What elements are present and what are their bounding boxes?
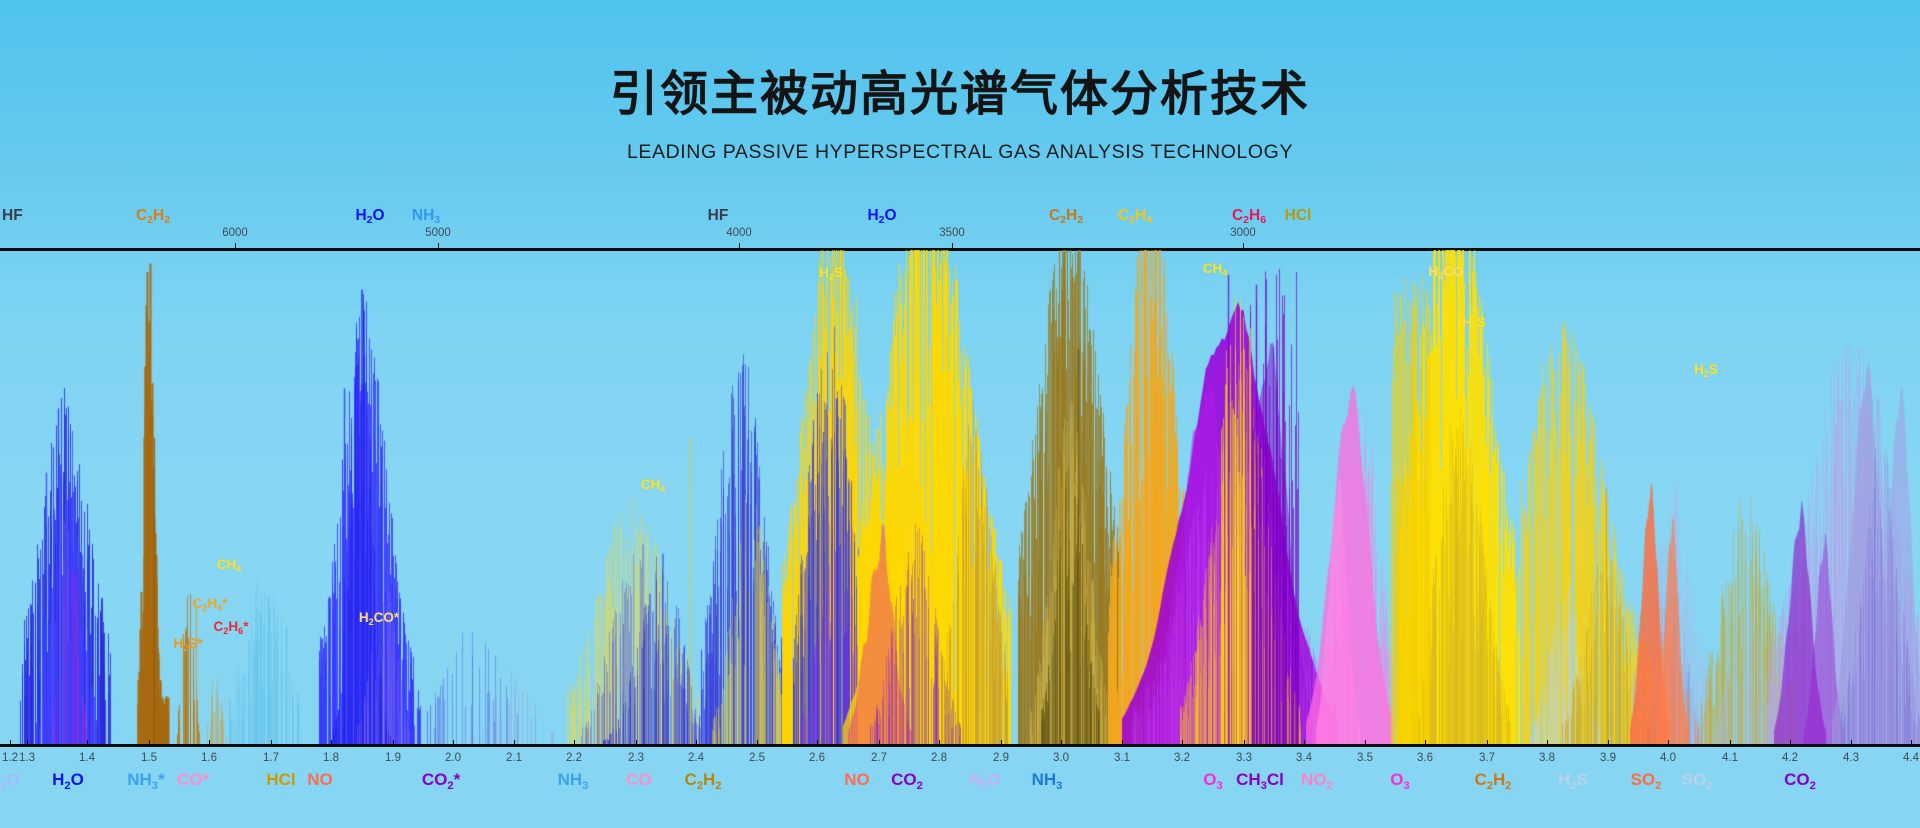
bottom-species-label: N2O: [969, 771, 1001, 788]
bottom-tick-mark: [1487, 740, 1488, 745]
bottom-tick-mark: [1365, 740, 1366, 745]
bottom-tick-mark: [514, 740, 515, 745]
bottom-species-label: C2H2: [684, 771, 721, 788]
bottom-tick-mark: [757, 740, 758, 745]
bottom-tick-mark: [209, 740, 210, 745]
bottom-tick-mark: [393, 740, 394, 745]
inplot-species-label: CH4: [217, 558, 242, 572]
top-species-label: HF: [708, 208, 729, 224]
bottom-tick-label: 1.4: [79, 753, 95, 765]
inplot-species-label: H2S: [819, 266, 843, 280]
top-species-label: H2O: [867, 208, 896, 224]
bottom-tick-mark: [331, 740, 332, 745]
bottom-tick-label: 4.2: [1782, 753, 1798, 765]
bottom-tick-label: 3.0: [1053, 753, 1069, 765]
bottom-tick-label: 3.3: [1236, 753, 1252, 765]
bottom-tick-label: 3.5: [1357, 753, 1373, 765]
bottom-tick-mark: [1061, 740, 1062, 745]
bottom-species-label: HCl: [266, 771, 295, 788]
bottom-tick-label: 3.7: [1479, 753, 1495, 765]
bottom-tick-label: 1.9: [385, 753, 401, 765]
inplot-species-label: H2CO*: [359, 611, 399, 625]
bottom-tick-label: 2.9: [993, 753, 1009, 765]
bottom-species-label: CO*: [177, 771, 209, 788]
bottom-species-label: C2H2: [1474, 771, 1511, 788]
inplot-species-label: H2S*: [173, 637, 202, 651]
bottom-tick-mark: [1244, 740, 1245, 745]
bottom-tick-mark: [1425, 740, 1426, 745]
bottom-tick-mark: [271, 740, 272, 745]
bottom-tick-mark: [1547, 740, 1548, 745]
bottom-tick-label: 2.3: [628, 753, 644, 765]
bottom-tick-label: 2.5: [749, 753, 765, 765]
bottom-tick-mark: [1911, 740, 1912, 745]
bottom-species-label: H2S: [1558, 771, 1588, 788]
top-species-label: NH3: [412, 208, 440, 224]
bottom-species-label: NH3*: [127, 771, 164, 788]
bottom-axis-line: [0, 744, 1920, 747]
spectrum-canvas: [0, 250, 1920, 745]
bottom-species-label: NH3: [1032, 771, 1063, 788]
inplot-species-label: CH4: [1203, 262, 1228, 276]
bottom-tick-label: 4.3: [1843, 753, 1859, 765]
top-species-label: H2O: [355, 208, 384, 224]
bottom-tick-mark: [453, 740, 454, 745]
bottom-species-label: O3: [1203, 771, 1222, 788]
bottom-species-label: CO2: [1784, 771, 1816, 788]
bottom-tick-label: 3.9: [1600, 753, 1616, 765]
bottom-tick-mark: [87, 740, 88, 745]
bottom-species-label: NO: [307, 771, 333, 788]
header: 引领主被动高光谱气体分析技术 LEADING PASSIVE HYPERSPEC…: [0, 0, 1920, 248]
bottom-tick-label: 3.4: [1296, 753, 1312, 765]
top-tick-label: 5000: [425, 228, 451, 240]
bottom-tick-mark: [879, 740, 880, 745]
top-tick-label: 3000: [1230, 228, 1256, 240]
bottom-tick-mark: [696, 740, 697, 745]
bottom-species-label: N2O: [0, 771, 20, 788]
inplot-species-label: C2H4*: [193, 597, 228, 611]
bottom-species-label: CO2*: [422, 771, 460, 788]
inplot-species-label: H2S: [1694, 363, 1718, 377]
bottom-tick-label: 4.0: [1660, 753, 1676, 765]
top-species-label: C2H4: [1118, 208, 1152, 224]
bottom-tick-mark: [1122, 740, 1123, 745]
bottom-species-label: CO2: [891, 771, 923, 788]
bottom-species-label: NH3: [558, 771, 589, 788]
bottom-tick-mark: [149, 740, 150, 745]
bottom-tick-label: 2.1: [506, 753, 522, 765]
bottom-species-label: SO2: [1631, 771, 1662, 788]
bottom-species-label: SO2: [1682, 771, 1713, 788]
bottom-tick-mark: [1001, 740, 1002, 745]
bottom-tick-label: 4.1: [1722, 753, 1738, 765]
bottom-tick-label: 2.0: [445, 753, 461, 765]
bottom-tick-label: 1.7: [263, 753, 279, 765]
bottom-tick-mark: [636, 740, 637, 745]
bottom-species-label: H2O: [52, 771, 84, 788]
top-species-label: HCl: [1285, 208, 1312, 224]
inplot-species-label: C2H6*: [214, 620, 249, 634]
bottom-tick-label: 2.8: [931, 753, 947, 765]
top-tick-label: 4000: [726, 228, 752, 240]
bottom-tick-mark: [574, 740, 575, 745]
bottom-tick-label: 1.5: [141, 753, 157, 765]
bottom-tick-mark: [1182, 740, 1183, 745]
bottom-species-label: NO2: [1301, 771, 1333, 788]
bottom-tick-mark: [939, 740, 940, 745]
bottom-species-label: CO: [626, 771, 652, 788]
bottom-tick-label: 1.6: [201, 753, 217, 765]
bottom-tick-mark: [817, 740, 818, 745]
bottom-tick-label: 3.8: [1539, 753, 1555, 765]
bottom-tick-label: 2.7: [871, 753, 887, 765]
top-species-label: C2H2: [1049, 208, 1083, 224]
bottom-tick-label: 2.6: [809, 753, 825, 765]
bottom-tick-label: 3.2: [1174, 753, 1190, 765]
inplot-species-label: CH4: [641, 478, 666, 492]
spectrum-plot: [0, 250, 1920, 745]
bottom-tick-label: 2.4: [688, 753, 704, 765]
bottom-tick-label: 3.6: [1417, 753, 1433, 765]
page-subtitle: LEADING PASSIVE HYPERSPECTRAL GAS ANALYS…: [0, 141, 1920, 164]
bottom-tick-mark: [10, 740, 11, 745]
bottom-tick-label: 1.3: [19, 753, 35, 765]
top-tick-label: 6000: [222, 228, 248, 240]
bottom-species-label: NO: [844, 771, 870, 788]
bottom-tick-label: 2.2: [566, 753, 582, 765]
bottom-tick-mark: [1608, 740, 1609, 745]
inplot-species-label: H2CO: [1428, 265, 1463, 279]
bottom-tick-mark: [1790, 740, 1791, 745]
bottom-tick-mark: [27, 740, 28, 745]
top-species-label: HF: [2, 208, 23, 224]
top-tick-label: 3500: [939, 228, 965, 240]
infographic-root: 引领主被动高光谱气体分析技术 LEADING PASSIVE HYPERSPEC…: [0, 0, 1920, 828]
top-species-label: C2H2: [136, 208, 170, 224]
bottom-tick-mark: [1851, 740, 1852, 745]
bottom-species-label: CH3Cl: [1236, 771, 1284, 788]
bottom-tick-label: 1.8: [323, 753, 339, 765]
bottom-tick-label: 3.1: [1114, 753, 1130, 765]
bottom-tick-label: 4.4: [1903, 753, 1919, 765]
inplot-species-label: H2S: [1462, 316, 1486, 330]
bottom-tick-mark: [1730, 740, 1731, 745]
page-title: 引领主被动高光谱气体分析技术: [0, 68, 1920, 121]
bottom-tick-label: 1.2: [2, 753, 18, 765]
bottom-species-label: O3: [1390, 771, 1409, 788]
bottom-tick-mark: [1668, 740, 1669, 745]
bottom-tick-mark: [1304, 740, 1305, 745]
top-species-label: C2H6: [1232, 208, 1266, 224]
